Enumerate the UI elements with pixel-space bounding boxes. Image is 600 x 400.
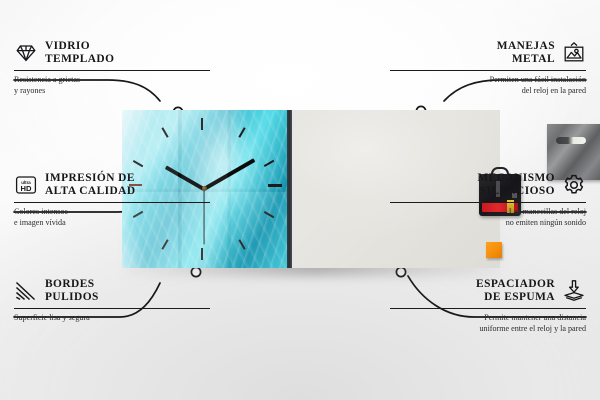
infographic-canvas: VIDRIOTEMPLADO Resistencia a grietasy ra…: [0, 0, 600, 400]
callout-silent-mechanism: MECANISMOSILENCIOSO Las manecillas del r…: [390, 172, 586, 228]
callout-title: VIDRIOTEMPLADO: [45, 40, 114, 67]
callout-title: ESPACIADORDE ESPUMA: [476, 278, 555, 305]
callout-divider: [390, 202, 586, 204]
callout-divider: [14, 70, 210, 72]
callout-title: MANEJASMETAL: [497, 40, 555, 67]
gear-icon: [562, 173, 586, 197]
callout-header: ESPACIADORDE ESPUMA: [390, 278, 586, 305]
callout-description: Permiten una fácil instalacióndel reloj …: [390, 75, 586, 96]
callout-header: MECANISMOSILENCIOSO: [390, 172, 586, 199]
callout-description: Las manecillas del relojno emiten ningún…: [390, 207, 586, 228]
callout-title: MECANISMOSILENCIOSO: [478, 172, 555, 199]
clock-tick: [264, 160, 275, 167]
callout-divider: [390, 308, 586, 310]
svg-text:HD: HD: [21, 184, 32, 193]
clock-tick: [264, 211, 275, 218]
polished-edge-lines-icon: [14, 279, 38, 303]
callout-foam-spacer: ESPACIADORDE ESPUMA Permite mantener una…: [390, 278, 586, 334]
clock-tick: [268, 184, 282, 187]
callout-divider: [390, 70, 586, 72]
callout-title: IMPRESIÓN DEALTA CALIDAD: [45, 172, 136, 199]
callout-description: Superficie lisa y segura: [14, 313, 210, 323]
arrow-onto-layers-icon: [562, 279, 586, 303]
clock-tick: [238, 239, 245, 250]
ultra-hd-badge-icon: ultra HD: [14, 173, 38, 197]
hanging-picture-frame-icon: [562, 41, 586, 65]
clock-minute-hand: [203, 158, 255, 190]
clock-tick: [133, 160, 144, 167]
clock-tick: [161, 239, 168, 250]
callout-header: ultra HD IMPRESIÓN DEALTA CALIDAD: [14, 172, 210, 199]
callout-divider: [14, 202, 210, 204]
callout-polished-edges: BORDESPULIDOS Superficie lisa y segura: [14, 278, 210, 324]
callout-description: Resistencia a grietasy rayones: [14, 75, 210, 96]
foam-spacer-pad: [486, 242, 502, 258]
clock-tick: [201, 248, 203, 260]
callout-tempered-glass: VIDRIOTEMPLADO Resistencia a grietasy ra…: [14, 40, 210, 96]
clock-tick: [201, 118, 203, 130]
callout-header: BORDESPULIDOS: [14, 278, 210, 305]
callout-divider: [14, 308, 210, 310]
clock-tick: [238, 127, 245, 138]
diamond-icon: [14, 41, 38, 65]
hanger-slot: [556, 137, 586, 144]
callout-title: BORDESPULIDOS: [45, 278, 99, 305]
callout-high-quality-print: ultra HD IMPRESIÓN DEALTA CALIDAD Colore…: [14, 172, 210, 228]
callout-description: Permite mantener una distanciauniforme e…: [390, 313, 586, 334]
callout-header: VIDRIOTEMPLADO: [14, 40, 210, 67]
callout-metal-handles: MANEJASMETAL Permiten una fácil instalac…: [390, 40, 586, 96]
callout-description: Colores intensose imagen vívida: [14, 207, 210, 228]
clock-tick: [161, 127, 168, 138]
callout-header: MANEJASMETAL: [390, 40, 586, 67]
